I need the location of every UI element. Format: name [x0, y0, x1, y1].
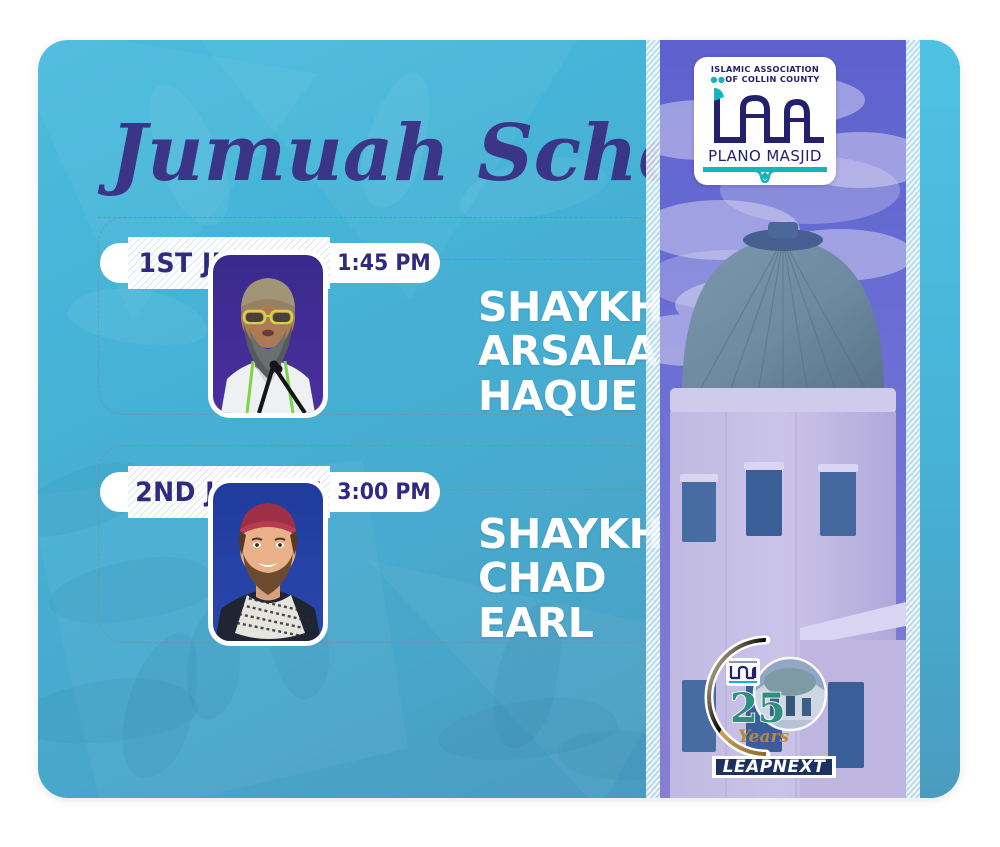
session-time-2: 3:00 PM [334, 472, 434, 512]
logo-org-line1-text: ISLAMIC ASSOCIATION [711, 64, 819, 74]
logo-knot-icon [754, 170, 776, 183]
logo-org-line2-text: OF COLLIN COUNTY [725, 74, 819, 84]
speaker-photo-2 [208, 478, 328, 646]
anniversary-number: 25 [730, 685, 786, 732]
portrait-chad-earl [213, 483, 323, 641]
campaign-name: LEAPNEXT [723, 757, 827, 777]
speaker-name-2-line3: EARL [478, 601, 662, 645]
session-time-1: 1:45 PM [334, 243, 434, 283]
speaker-name-2: SHAYKH CHAD EARL [478, 512, 662, 645]
speaker-name-2-line1: SHAYKH [478, 512, 662, 556]
iacc-logo: ISLAMIC ASSOCIATION ●●OF COLLIN COUNTY P… [694, 57, 836, 185]
logo-org-line1: ISLAMIC ASSOCIATION [703, 64, 827, 74]
logo-wordmark [703, 86, 827, 148]
speaker-photo-1 [208, 250, 328, 418]
bg-leaf [111, 624, 211, 786]
bg-leaf [38, 672, 200, 749]
portrait-arsalan-haque [213, 255, 323, 413]
bg-leaf [435, 691, 620, 767]
leapnext-anniversary-badge: 25 Years LEAPNEXT [704, 632, 844, 784]
page-title: Jumuah Schedule [106, 98, 626, 208]
anniversary-years: Years [738, 727, 789, 747]
panel-cyan-strip [920, 40, 960, 798]
logo-tagline: PLANO MASJID [703, 149, 827, 164]
leapnext-badge-icon: 25 Years LEAPNEXT [704, 632, 844, 784]
logo-org-line2: ●●OF COLLIN COUNTY [703, 74, 827, 84]
panel-edge-right [906, 40, 920, 798]
logo-dots-icon: ●● [710, 74, 725, 84]
panel-edge-left [646, 40, 660, 798]
logo-teal-bar [703, 167, 827, 172]
iacc-wordmark-icon [703, 86, 827, 148]
speaker-name-2-line2: CHAD [478, 556, 662, 600]
